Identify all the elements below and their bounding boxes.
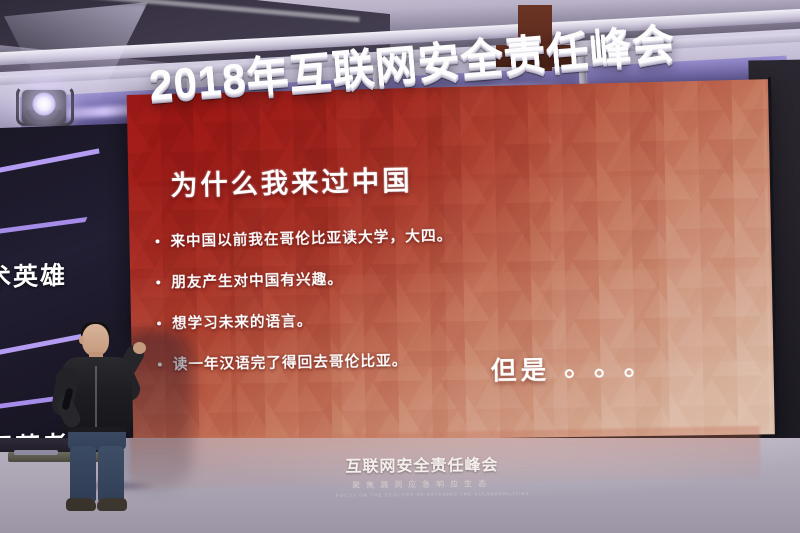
speaker-jacket-zipper — [95, 366, 97, 430]
conference-stage-photo: 术英雄 运营者 为什么我来过中国 来中国以前我在哥伦比亚读大学，大四。 朋友产生… — [0, 0, 800, 533]
speaker-right-shoe — [97, 498, 127, 511]
speaker-left-shoe — [66, 498, 96, 511]
floor-logo-sub: 聚焦漏洞应急响应生态 — [336, 478, 508, 491]
speaker-right-leg — [98, 446, 124, 502]
floor-logo-main: 互联网安全责任峰会 — [336, 451, 508, 477]
speaker-left-leg — [70, 446, 96, 502]
light-lamp — [32, 92, 56, 116]
presentation-screen: 为什么我来过中国 来中国以前我在哥伦比亚读大学，大四。 朋友产生对中国有兴趣。 … — [127, 79, 776, 443]
event-floor-logo: 互联网安全责任峰会 聚焦漏洞应急响应生态 FOCUS ON THE ECOLOG… — [336, 451, 508, 498]
screen-vignette — [127, 79, 776, 443]
title-mount-bracket — [518, 5, 552, 71]
speaker-belt — [68, 427, 126, 432]
speaker-right-hand — [133, 342, 146, 354]
left-banner-line-1: 术英雄 — [0, 256, 67, 295]
speaker-person — [40, 322, 152, 512]
speaker-ear — [79, 336, 84, 344]
